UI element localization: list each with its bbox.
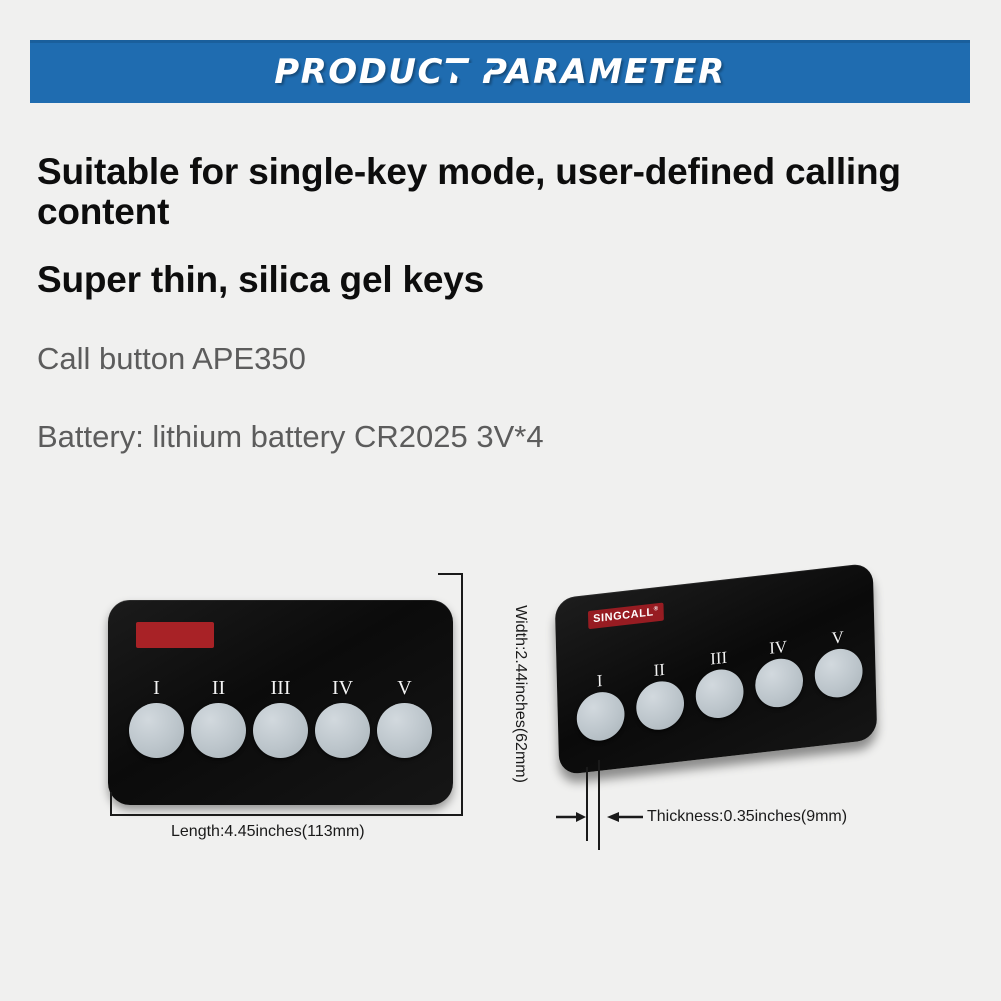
key-button-3: [253, 703, 308, 758]
angled-key-2: II: [634, 659, 685, 733]
red-label-tag: [136, 622, 214, 648]
thickness-arrow-right-icon: [556, 810, 586, 824]
angled-key-button-2: [636, 679, 685, 733]
angled-key-button-1: [576, 690, 625, 744]
key-5: V: [376, 678, 433, 758]
key-4: IV: [314, 678, 371, 758]
key-2: II: [190, 678, 247, 758]
angled-key-label-5: V: [831, 628, 844, 646]
key-label-4: IV: [332, 678, 353, 698]
key-button-1: [129, 703, 184, 758]
angled-key-1: I: [575, 669, 626, 743]
angled-key-button-4: [755, 656, 804, 710]
angled-key-5: V: [813, 626, 864, 700]
thickness-dimension-label: Thickness:0.35inches(9mm): [647, 808, 847, 826]
thickness-extension-line-right: [598, 760, 600, 850]
thickness-arrow-left-icon: [607, 810, 643, 824]
angled-key-label-4: IV: [769, 638, 787, 657]
product-figures: I II III IV V: [0, 555, 1001, 885]
angled-key-4: IV: [753, 636, 804, 710]
length-dimension-line: [110, 814, 462, 816]
angled-key-3: III: [694, 647, 745, 721]
key-label-5: V: [397, 678, 411, 698]
headline-secondary: Super thin, silica gel keys: [37, 260, 937, 300]
detail-model: Call button APE350: [37, 342, 937, 376]
product-parameter-page: PRODUCT PARAMETER Suitable for single-ke…: [0, 0, 1001, 1001]
angled-key-label-3: III: [710, 649, 727, 668]
angled-key-label-2: II: [653, 661, 665, 679]
page-title: PRODUCT PARAMETER: [30, 40, 970, 103]
key-button-5: [377, 703, 432, 758]
angled-key-button-3: [695, 667, 744, 721]
key-3: III: [252, 678, 309, 758]
key-row-angled: I II III IV: [574, 626, 865, 754]
width-dimension-label: Width:2.44inches(62mm): [511, 579, 529, 809]
width-dimension-tick: [438, 573, 463, 575]
length-dimension-label: Length:4.45inches(113mm): [171, 823, 365, 841]
device-angled-view: SINGCALL® I II III IV: [556, 581, 906, 796]
key-label-1: I: [153, 678, 160, 698]
angled-key-label-1: I: [597, 672, 603, 690]
width-dimension-line: [461, 573, 463, 816]
header-banner: PRODUCT PARAMETER: [30, 40, 970, 103]
length-dimension-tick: [110, 792, 112, 816]
singcall-brand-label: SINGCALL®: [588, 603, 664, 629]
key-1: I: [128, 678, 185, 758]
banner-arrow-icon: [442, 63, 498, 88]
device-angled-body: SINGCALL® I II III IV: [555, 563, 878, 776]
angled-key-button-5: [814, 646, 863, 700]
registered-mark-icon: ®: [654, 606, 659, 613]
key-button-4: [315, 703, 370, 758]
key-label-2: II: [212, 678, 225, 698]
detail-battery: Battery: lithium battery CR2025 3V*4: [37, 420, 937, 454]
thickness-extension-line-left: [586, 767, 588, 841]
key-button-2: [191, 703, 246, 758]
key-row-flat: I II III IV V: [128, 678, 433, 788]
key-label-3: III: [271, 678, 291, 698]
device-flat-view: I II III IV V: [108, 600, 453, 805]
headline-primary: Suitable for single-key mode, user-defin…: [37, 152, 937, 232]
brand-name: SINGCALL: [593, 606, 654, 625]
copy-block: Suitable for single-key mode, user-defin…: [37, 152, 937, 454]
